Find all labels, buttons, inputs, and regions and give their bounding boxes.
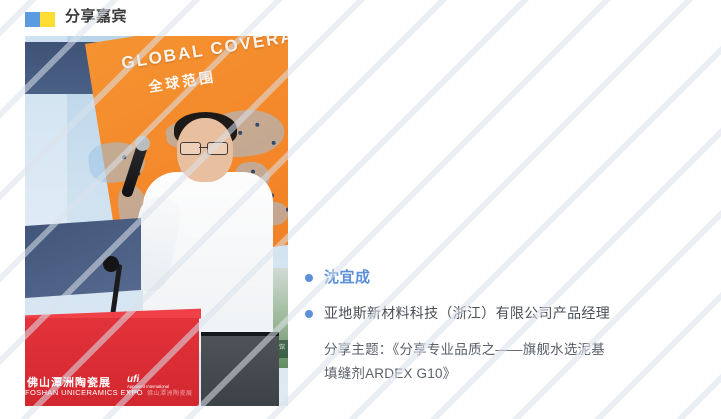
marker-blue-square bbox=[25, 12, 40, 27]
speaker-affiliation-row: 亚地斯新材料科技（浙江）有限公司产品经理 bbox=[305, 304, 705, 323]
speaker-topic: 分享主题：《分享专业品质之——旗舰水选泥基 填缝剂ARDEX G10》 bbox=[324, 338, 694, 385]
speaker-name-row: 沈宜成 bbox=[305, 268, 705, 288]
photo-podium-title-en: FOSHAN UNICERAMICS EXPO bbox=[25, 388, 143, 397]
photo-speaker-hand bbox=[135, 186, 161, 212]
section-header: 分享嘉宾 bbox=[25, 6, 127, 32]
speaker-name: 沈宜成 bbox=[324, 268, 371, 288]
photo-watermark: 佛山潭洲陶瓷展 bbox=[147, 388, 193, 397]
photo-laptop-screen bbox=[25, 218, 141, 298]
speaker-info: 沈宜成 亚地斯新材料科技（浙江）有限公司产品经理 分享主题：《分享专业品质之——… bbox=[305, 268, 705, 386]
photo-speaker-glasses bbox=[180, 142, 228, 153]
photo-stand-mic-head bbox=[103, 256, 119, 272]
speaker-topic-line-2: 填缝剂ARDEX G10》 bbox=[324, 362, 694, 386]
photo-speaker-trousers bbox=[201, 336, 279, 406]
bullet-icon bbox=[305, 274, 313, 282]
bullet-icon bbox=[305, 310, 313, 318]
marker-yellow-square bbox=[40, 12, 55, 27]
section-title: 分享嘉宾 bbox=[65, 9, 127, 24]
speaker-affiliation: 亚地斯新材料科技（浙江）有限公司产品经理 bbox=[324, 304, 610, 323]
speaker-photo: GLOBAL COVERAGE 全球范围 国际进口瓷砖馆 佛山潭洲陶瓷展 FOS… bbox=[25, 36, 288, 406]
speaker-topic-line-1: 分享主题：《分享专业品质之——旗舰水选泥基 bbox=[324, 338, 694, 362]
